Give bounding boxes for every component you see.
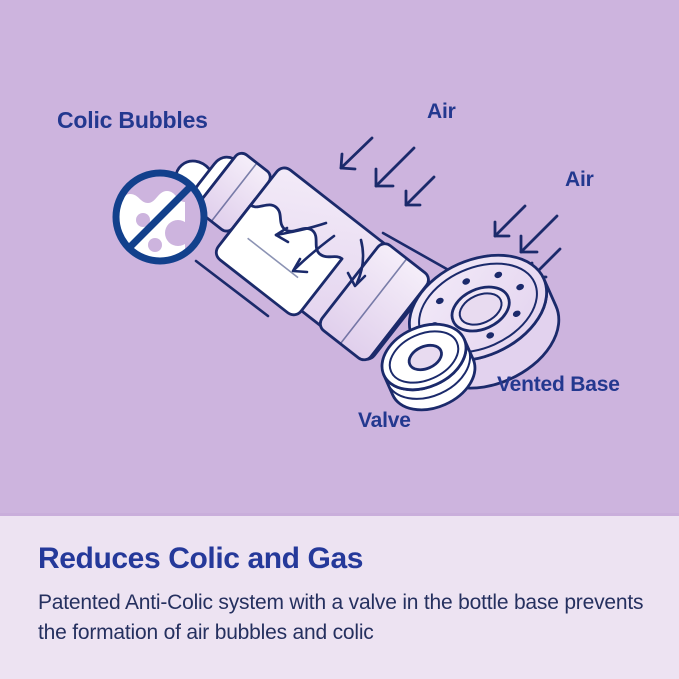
air-arrows-top-icon bbox=[341, 138, 434, 205]
diagram-panel: Colic Bubbles Air Air Vented Base Valve bbox=[0, 0, 679, 513]
caption-body: Patented Anti-Colic system with a valve … bbox=[38, 588, 648, 649]
diagram-illustration bbox=[0, 0, 679, 513]
caption-panel: Reduces Colic and Gas Patented Anti-Coli… bbox=[0, 513, 679, 679]
label-valve: Valve bbox=[358, 410, 411, 431]
product-feature-infographic: Colic Bubbles Air Air Vented Base Valve … bbox=[0, 0, 679, 679]
label-air-right: Air bbox=[565, 169, 594, 190]
label-colic-bubbles: Colic Bubbles bbox=[57, 109, 208, 132]
label-vented-base: Vented Base bbox=[497, 374, 620, 395]
no-colic-bubbles-icon bbox=[112, 173, 204, 264]
label-air-top: Air bbox=[427, 101, 456, 122]
caption-heading: Reduces Colic and Gas bbox=[38, 544, 363, 574]
